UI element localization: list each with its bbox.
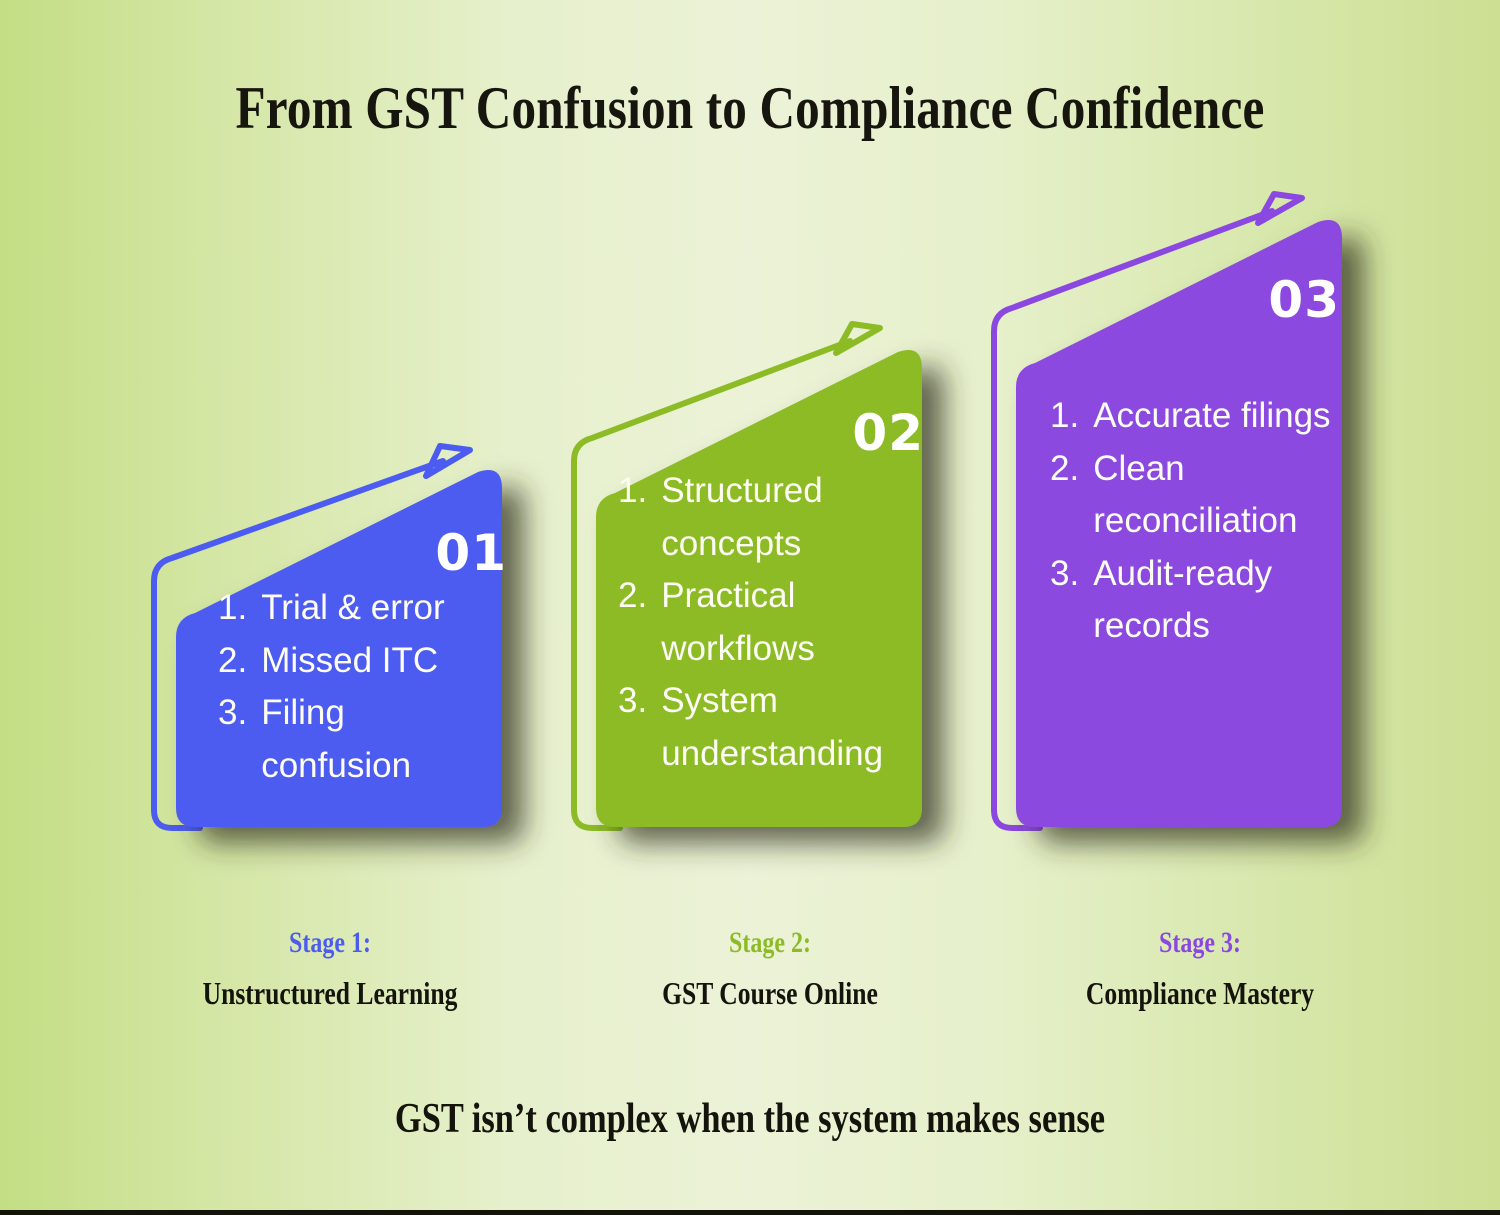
list-item: 1. Accurate filings — [1050, 390, 1350, 443]
stage-card-1-arrow-icon — [426, 446, 470, 476]
list-item: 1. Structured concepts — [618, 465, 928, 570]
stage-card-1-list: 1. Trial & error 2. Missed ITC 3. Filing… — [218, 582, 488, 792]
list-item: 3. Filing confusion — [218, 687, 488, 792]
stage-card-1[interactable]: 01 1. Trial & error 2. Missed ITC 3. Fil… — [140, 440, 540, 850]
stage-card-3[interactable]: 03 1. Accurate filings 2. Clean reconcil… — [980, 190, 1380, 850]
footer-tagline: GST isn’t complex when the system makes … — [135, 1095, 1365, 1143]
stage-card-2[interactable]: 02 1. Structured concepts 2. Practical w… — [560, 320, 960, 850]
stage-caption-1-label: Stage 1: — [170, 925, 490, 962]
stage-card-2-arrow-icon — [836, 324, 880, 353]
stage-card-1-number: 01 — [435, 528, 507, 578]
list-item: 3. Audit-ready records — [1050, 548, 1350, 653]
stage-card-2-number: 02 — [852, 408, 924, 458]
list-item: 2. Clean reconciliation — [1050, 443, 1350, 548]
stage-card-3-list: 1. Accurate filings 2. Clean reconciliat… — [1050, 390, 1350, 653]
stage-card-2-list: 1. Structured concepts 2. Practical work… — [618, 465, 928, 780]
stage-caption-3-label: Stage 3: — [1040, 925, 1360, 962]
stage-card-3-arrow-icon — [1258, 194, 1302, 223]
stages-board: 01 1. Trial & error 2. Missed ITC 3. Fil… — [0, 0, 1500, 1215]
stage-caption-2: Stage 2: GST Course Online — [610, 925, 930, 1013]
stage-caption-3: Stage 3: Compliance Mastery — [1040, 925, 1360, 1013]
list-item: 2. Missed ITC — [218, 635, 488, 688]
list-item: 3. System understanding — [618, 675, 928, 780]
stage-caption-3-name: Compliance Mastery — [1040, 974, 1360, 1013]
stage-card-3-number: 03 — [1268, 275, 1340, 325]
stage-caption-2-label: Stage 2: — [610, 925, 930, 962]
stage-caption-2-name: GST Course Online — [610, 974, 930, 1013]
stage-caption-1: Stage 1: Unstructured Learning — [170, 925, 490, 1013]
stage-caption-1-name: Unstructured Learning — [170, 974, 490, 1013]
list-item: 2. Practical workflows — [618, 570, 928, 675]
list-item: 1. Trial & error — [218, 582, 488, 635]
